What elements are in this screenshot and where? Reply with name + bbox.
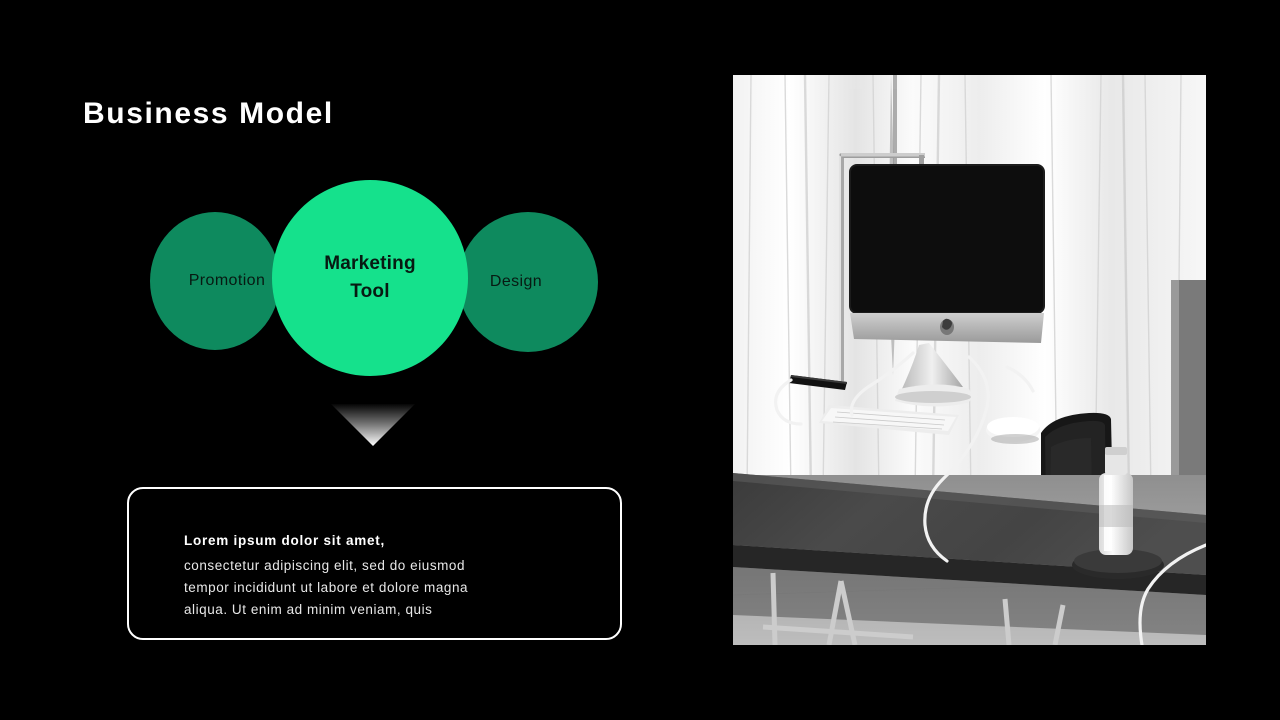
description-heading: Lorem ipsum dolor sit amet, (184, 531, 584, 551)
diagram-circle-promotion-label: Promotion (183, 272, 272, 290)
down-arrow-icon (331, 404, 415, 446)
diagram-circle-marketing-tool[interactable]: Marketing Tool (272, 180, 468, 376)
mouse (986, 417, 1040, 444)
description-card: Lorem ipsum dolor sit amet, consectetur … (127, 487, 622, 640)
office-desk-photo (733, 75, 1206, 645)
diagram-circle-design[interactable]: Design (458, 212, 598, 352)
diagram-circle-marketing-tool-label: Marketing Tool (318, 250, 422, 305)
diagram-circle-design-label: Design (484, 273, 548, 291)
page-title: Business Model (83, 96, 334, 132)
slide-canvas: Business Model Promotion Design Marketin… (0, 0, 1280, 720)
description-text-block: Lorem ipsum dolor sit amet, consectetur … (184, 531, 584, 621)
office-desk-photo-art (733, 75, 1206, 645)
diagram-circle-promotion[interactable]: Promotion (150, 212, 280, 350)
description-body: consectetur adipiscing elit, sed do eius… (184, 555, 584, 621)
